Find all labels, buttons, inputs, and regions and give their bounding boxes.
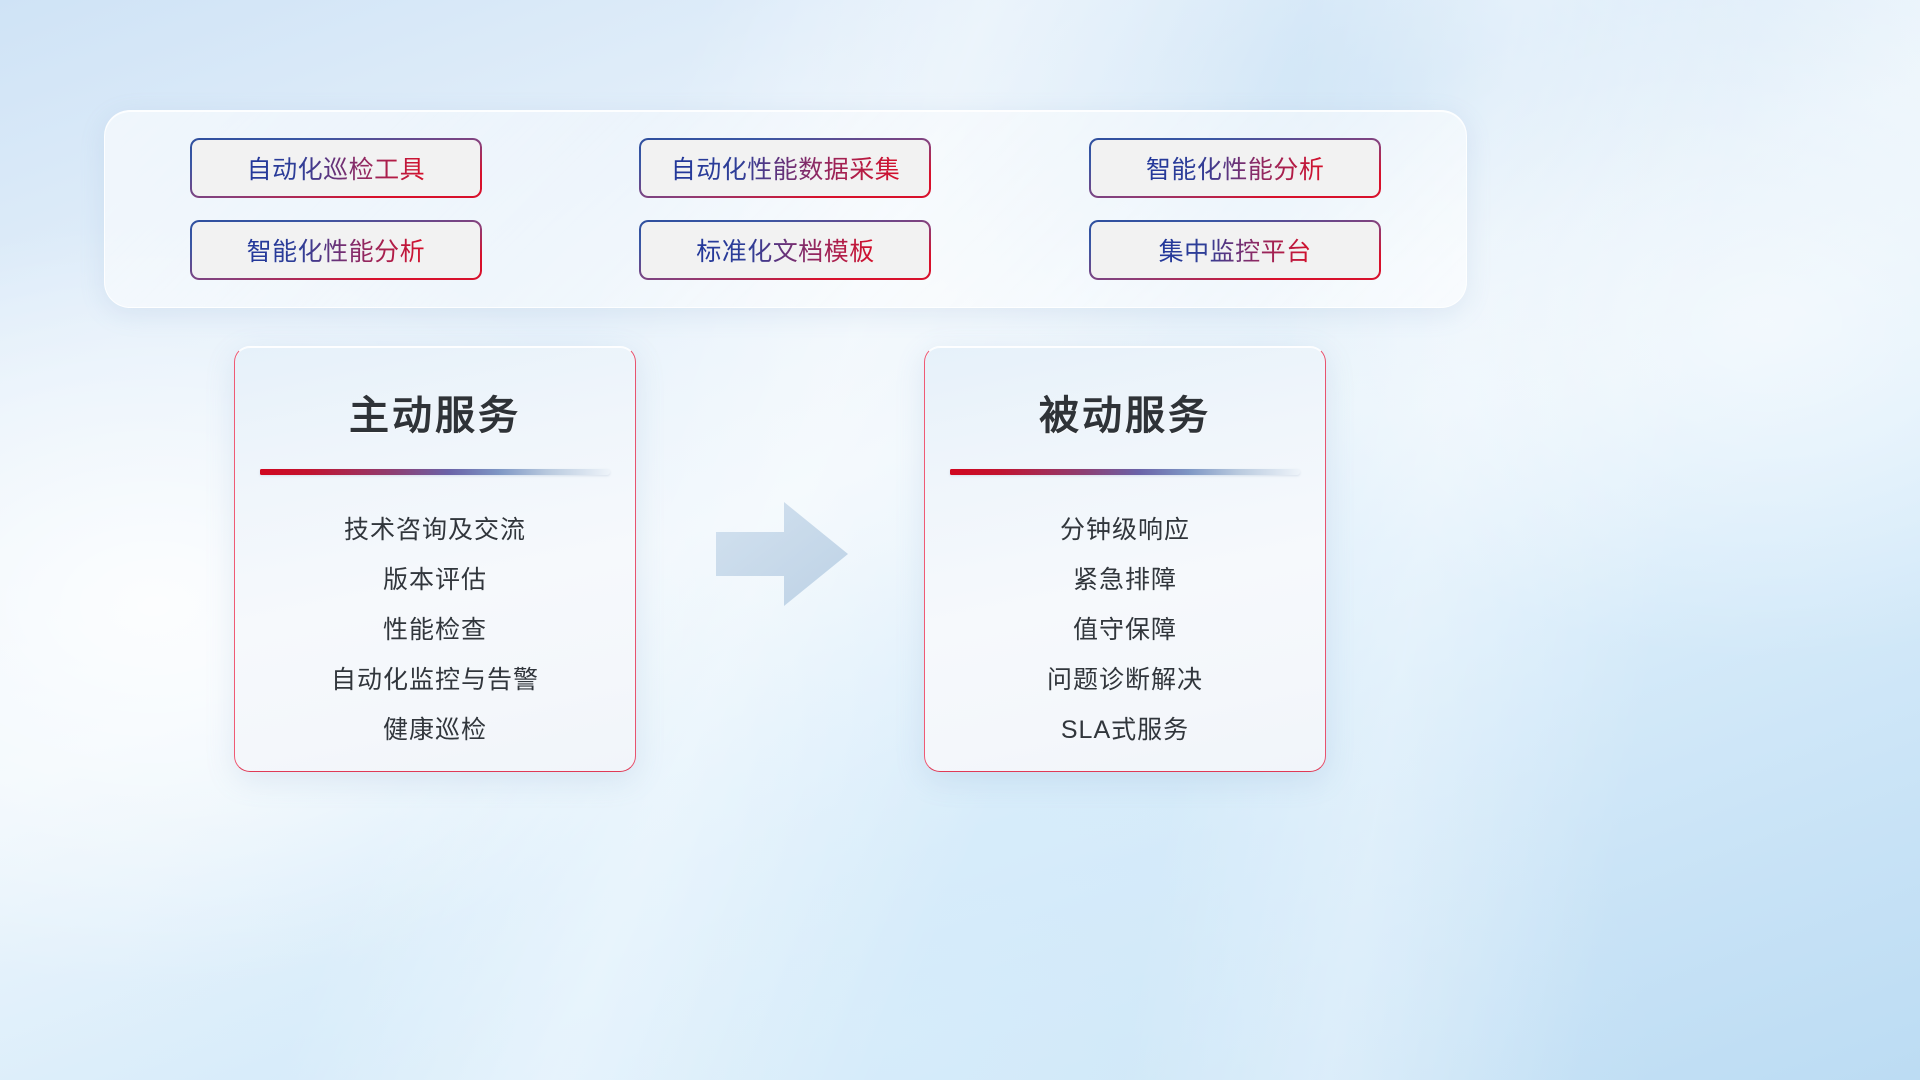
service-list-item: 健康巡检 xyxy=(261,703,609,753)
service-list-item: 性能检查 xyxy=(261,603,609,653)
service-list-item: 技术咨询及交流 xyxy=(261,503,609,553)
service-item-list: 分钟级响应 紧急排障 值守保障 问题诊断解决 SLA式服务 xyxy=(951,503,1299,753)
service-list-item: SLA式服务 xyxy=(951,703,1299,753)
capability-tag[interactable]: 自动化性能数据采集 xyxy=(639,138,931,198)
service-card-proactive: 主动服务 技术咨询及交流 版本评估 性能检查 自动化监控与告警 健康巡检 xyxy=(234,346,636,772)
capability-tag[interactable]: 智能化性能分析 xyxy=(1089,138,1381,198)
capability-tag-label: 智能化性能分析 xyxy=(247,232,426,268)
capability-tag-label: 标准化文档模板 xyxy=(696,232,875,268)
capability-tag[interactable]: 标准化文档模板 xyxy=(639,220,931,280)
card-divider xyxy=(950,469,1300,475)
service-item-list: 技术咨询及交流 版本评估 性能检查 自动化监控与告警 健康巡检 xyxy=(261,503,609,753)
capability-tag[interactable]: 集中监控平台 xyxy=(1089,220,1381,280)
capability-tag-label: 自动化性能数据采集 xyxy=(671,150,901,186)
capability-tag-label: 集中监控平台 xyxy=(1159,232,1312,268)
capability-tag-label: 自动化巡检工具 xyxy=(247,150,426,186)
card-title: 主动服务 xyxy=(349,383,521,441)
service-list-item: 分钟级响应 xyxy=(951,503,1299,553)
slide-canvas: 自动化巡检工具 自动化性能数据采集 智能化性能分析 智能化性能分析 标准化文档模… xyxy=(0,0,1920,1080)
service-list-item: 版本评估 xyxy=(261,553,609,603)
capability-tags-panel: 自动化巡检工具 自动化性能数据采集 智能化性能分析 智能化性能分析 标准化文档模… xyxy=(104,110,1467,308)
card-divider xyxy=(260,469,610,475)
service-card-reactive: 被动服务 分钟级响应 紧急排障 值守保障 问题诊断解决 SLA式服务 xyxy=(924,346,1326,772)
card-title: 被动服务 xyxy=(1039,383,1211,441)
capability-tag[interactable]: 自动化巡检工具 xyxy=(190,138,482,198)
service-list-item: 自动化监控与告警 xyxy=(261,653,609,703)
capability-tag[interactable]: 智能化性能分析 xyxy=(190,220,482,280)
right-arrow-icon xyxy=(716,498,848,610)
service-list-item: 值守保障 xyxy=(951,603,1299,653)
capability-tag-label: 智能化性能分析 xyxy=(1146,150,1325,186)
service-list-item: 问题诊断解决 xyxy=(951,653,1299,703)
service-list-item: 紧急排障 xyxy=(951,553,1299,603)
